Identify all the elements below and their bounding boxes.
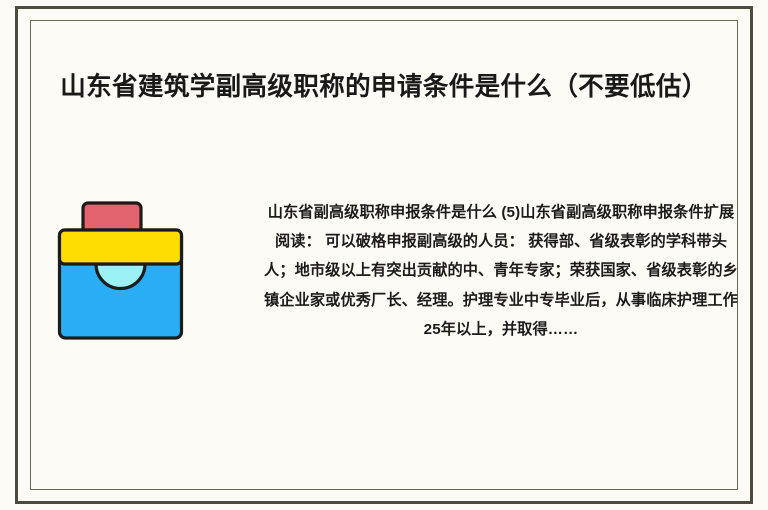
- page-title: 山东省建筑学副高级职称的申请条件是什么（不要低估）: [40, 72, 728, 104]
- page-root: 山东省建筑学副高级职称的申请条件是什么（不要低估） 山东省副高级职称申报条件是什…: [0, 0, 768, 510]
- body-paragraph: 山东省副高级职称申报条件是什么 (5)山东省副高级职称申报条件扩展阅读： 可以破…: [262, 198, 740, 344]
- briefcase-illustration: [55, 198, 195, 343]
- content-area: 山东省副高级职称申报条件是什么 (5)山东省副高级职称申报条件扩展阅读： 可以破…: [40, 190, 740, 400]
- briefcase-band-shape: [60, 230, 182, 264]
- briefcase-icon: [55, 198, 195, 343]
